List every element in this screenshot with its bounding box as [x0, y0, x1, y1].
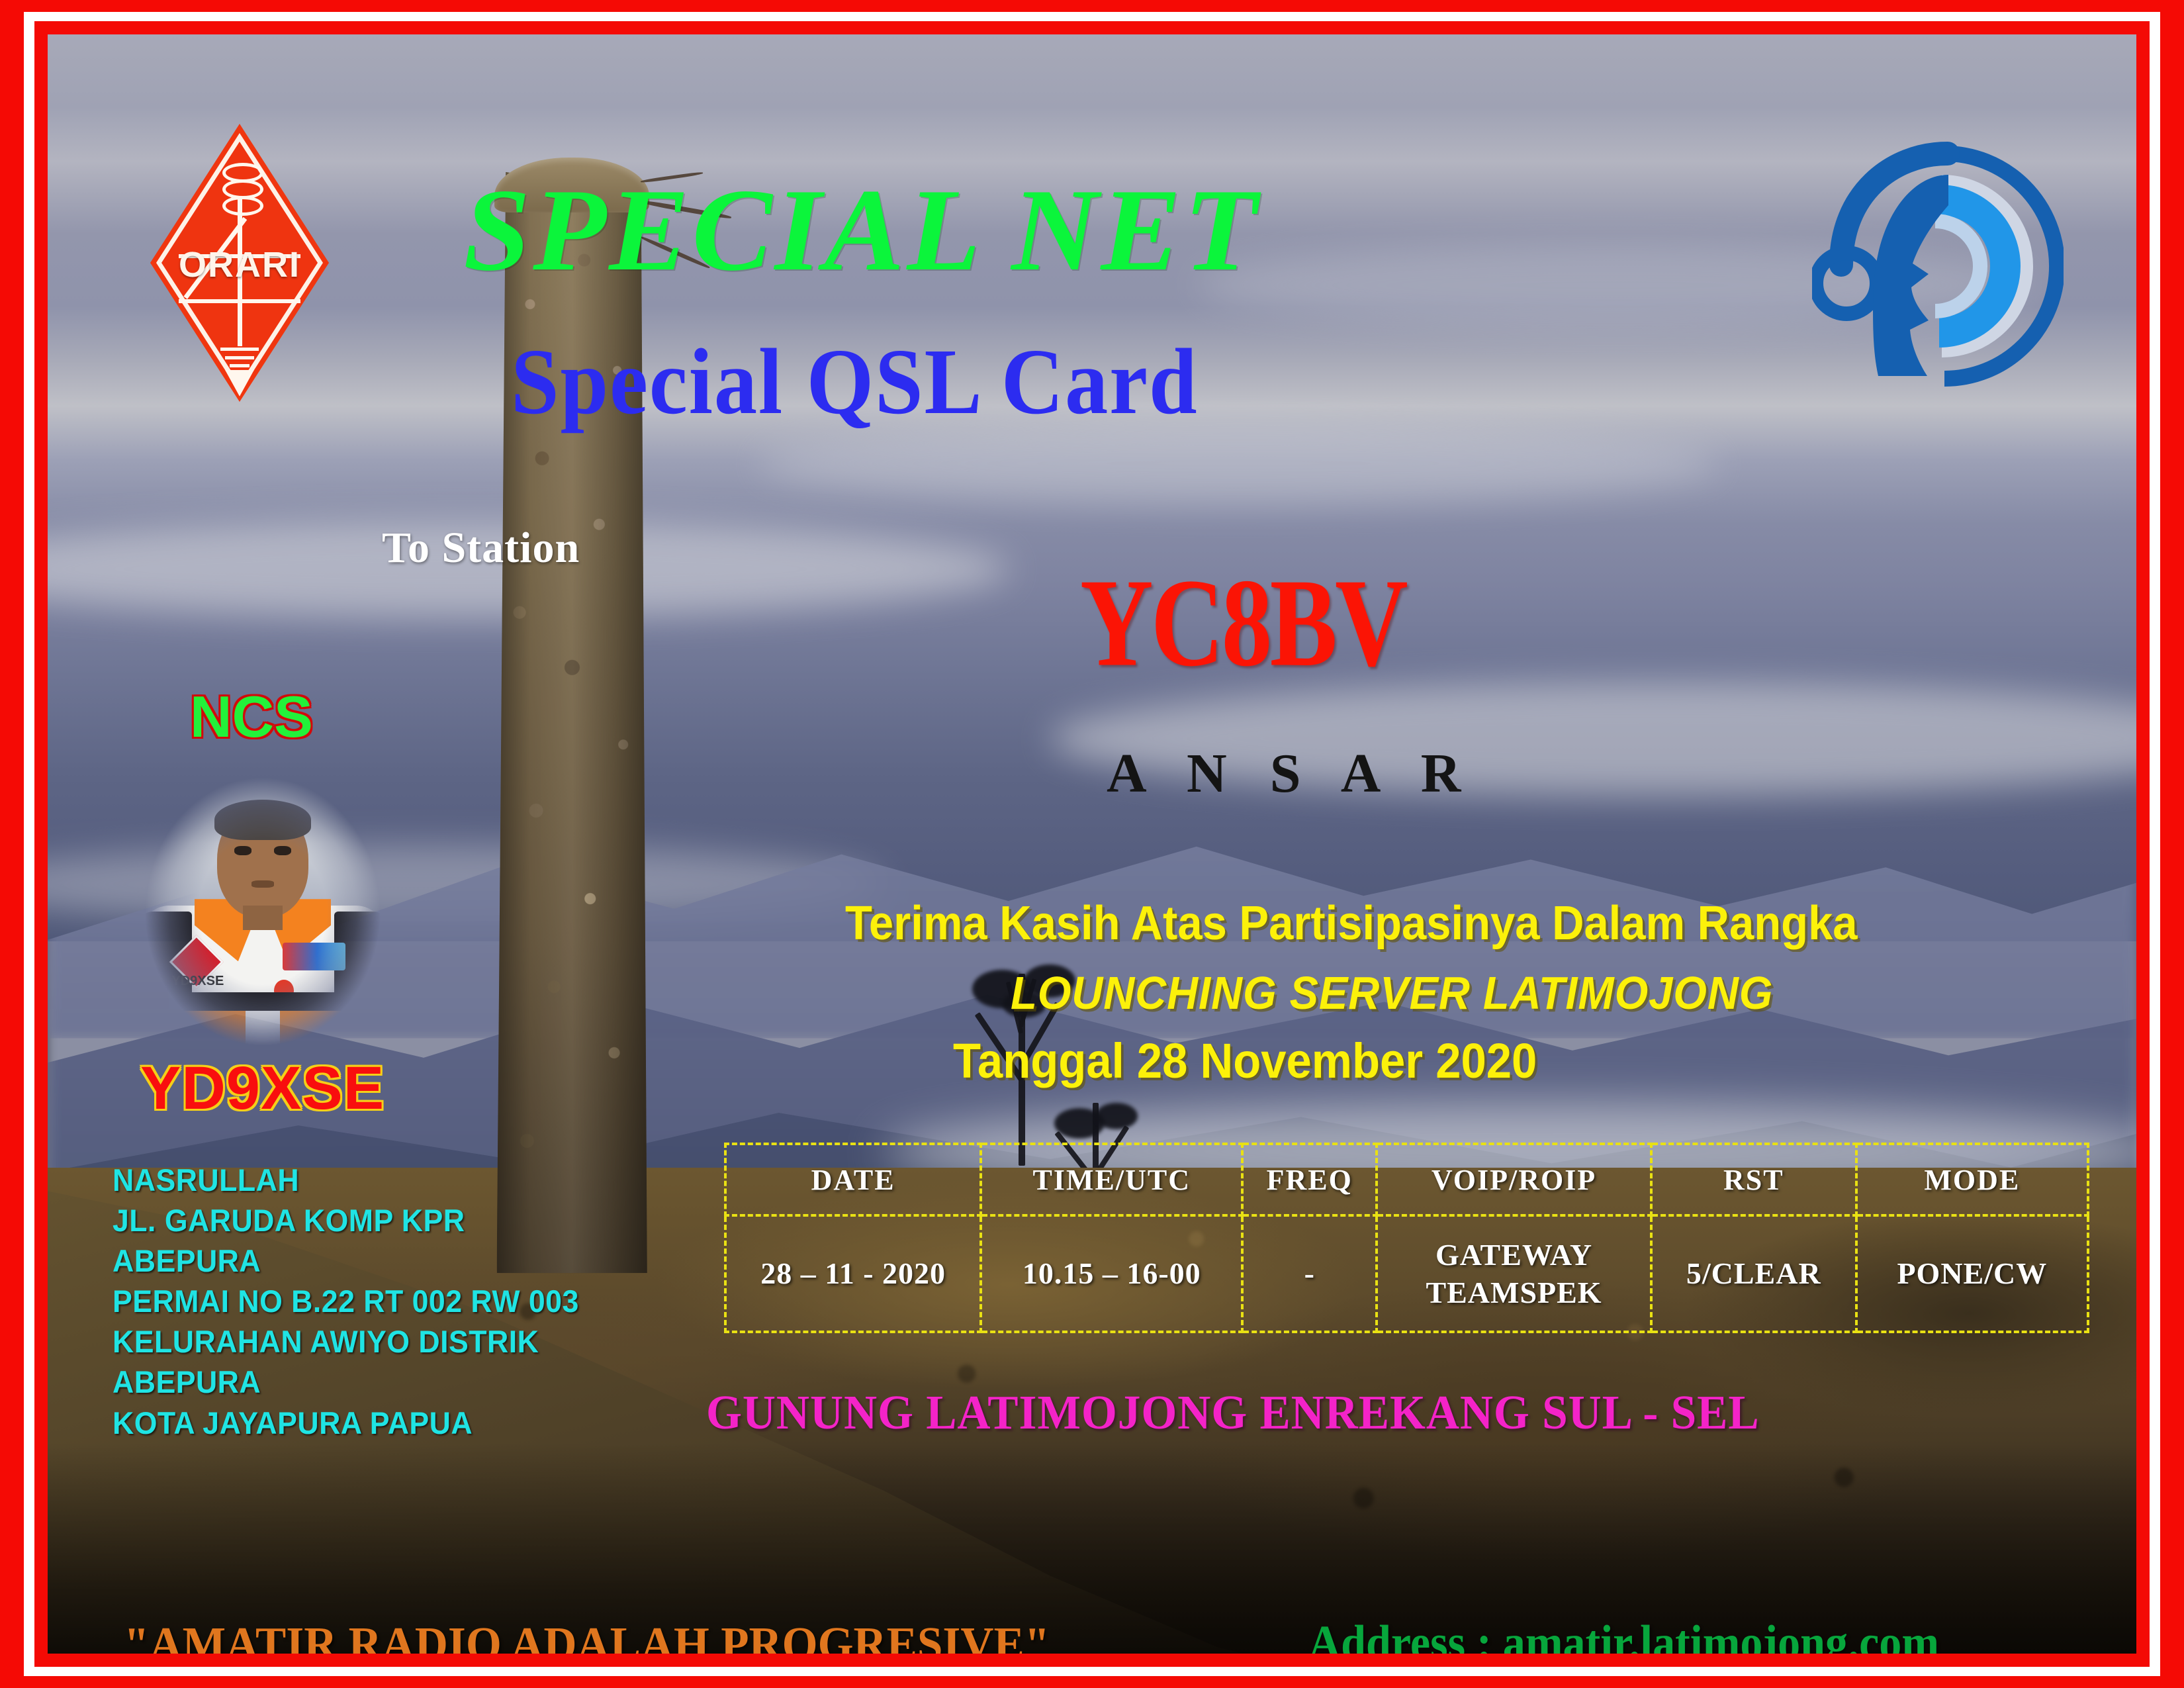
column-header-voip-roip: VOIP/ROIP — [1377, 1144, 1651, 1215]
cell-freq: - — [1242, 1215, 1377, 1332]
to-station-label: To Station — [382, 523, 580, 573]
orari-bar-bottom — [179, 299, 300, 303]
orari-coil-icon — [222, 196, 263, 216]
event-name: LOUNCHING SERVER LATIMOJONG — [1011, 966, 1773, 1019]
column-header-time: TIME/UTC — [981, 1144, 1242, 1215]
cell-date: 28 – 11 - 2020 — [725, 1215, 981, 1332]
cell-voip-line1: GATEWAY — [1378, 1236, 1650, 1274]
cell-rst: 5/CLEAR — [1651, 1215, 1856, 1332]
neck — [243, 906, 283, 931]
orari-ground-symbol — [220, 348, 259, 351]
location-text: GUNUNG LATIMOJONG ENREKANG SUL - SEL — [706, 1385, 1760, 1440]
cell-voip-roip: GATEWAY TEAMSPEK — [1377, 1215, 1651, 1332]
event-date: Tanggal 28 November 2020 — [953, 1033, 1537, 1089]
column-header-date: DATE — [725, 1144, 981, 1215]
orari-ground-symbol — [230, 364, 250, 367]
cell-time: 10.15 – 16-00 — [981, 1215, 1242, 1332]
mailing-address: NASRULLAH JL. GARUDA KOMP KPR ABEPURA PE… — [113, 1160, 666, 1443]
motto-text: "AMATIR RADIO ADALAH PROGRESIVE" — [124, 1617, 1050, 1654]
column-header-mode: MODE — [1856, 1144, 2088, 1215]
address-line: KOTA JAYAPURA PAPUA — [113, 1403, 666, 1443]
table-header-row: DATE TIME/UTC FREQ VOIP/ROIP RST MODE — [725, 1144, 2088, 1215]
ncs-callsign: YD9XSE — [140, 1054, 385, 1123]
station-callsign: YC8BV — [1080, 551, 1406, 695]
website-address[interactable]: Address : amatir.latimojong.com — [1308, 1615, 1939, 1654]
mouth — [251, 880, 274, 888]
portrait-vignette: YD9XSE — [120, 756, 405, 1067]
orari-logo: ORARI — [150, 124, 329, 402]
cell-voip-line2: TEAMSPEK — [1378, 1274, 1650, 1312]
uniform-callsign-text: YD9XSE — [171, 974, 240, 990]
page-subtitle: Special QSL Card — [511, 327, 1198, 436]
thanks-message: Terima Kasih Atas Partisipasinya Dalam R… — [845, 896, 1858, 951]
orari-ground-symbol — [225, 356, 254, 359]
hair — [214, 800, 311, 840]
address-line: JL. GARUDA KOMP KPR — [113, 1200, 666, 1241]
uniform-belt — [143, 992, 382, 1011]
orari-wordmark: ORARI — [150, 244, 329, 285]
address-line: ABEPURA — [113, 1241, 666, 1281]
column-header-rst: RST — [1651, 1144, 1856, 1215]
qsl-card: ORARI SPECIAL NET Special QSL Card To St… — [0, 0, 2184, 1688]
address-line: PERMAI NO B.22 RT 002 RW 003 — [113, 1281, 666, 1321]
eye-right — [274, 846, 291, 855]
eye-left — [234, 846, 251, 855]
table-row: 28 – 11 - 2020 10.15 – 16-00 - GATEWAY T… — [725, 1215, 2088, 1332]
address-line: KELURAHAN AWIYO DISTRIK — [113, 1321, 666, 1362]
operator-name: A N S A R — [1107, 741, 1475, 806]
address-line: NASRULLAH — [113, 1160, 666, 1200]
ncs-operator-portrait: YD9XSE — [120, 756, 405, 1067]
qso-log-table: DATE TIME/UTC FREQ VOIP/ROIP RST MODE 28… — [724, 1143, 2089, 1333]
club-logo-patch — [283, 943, 345, 970]
headset-icon — [1812, 134, 2064, 399]
card-background-photo: ORARI SPECIAL NET Special QSL Card To St… — [48, 34, 2136, 1654]
column-header-freq: FREQ — [1242, 1144, 1377, 1215]
ncs-label: NCS — [190, 683, 313, 751]
headset-profile-wave-logo — [1812, 134, 2064, 399]
cell-mode: PONE/CW — [1856, 1215, 2088, 1332]
address-line: ABEPURA — [113, 1362, 666, 1402]
page-title: SPECIAL NET — [463, 162, 1259, 298]
